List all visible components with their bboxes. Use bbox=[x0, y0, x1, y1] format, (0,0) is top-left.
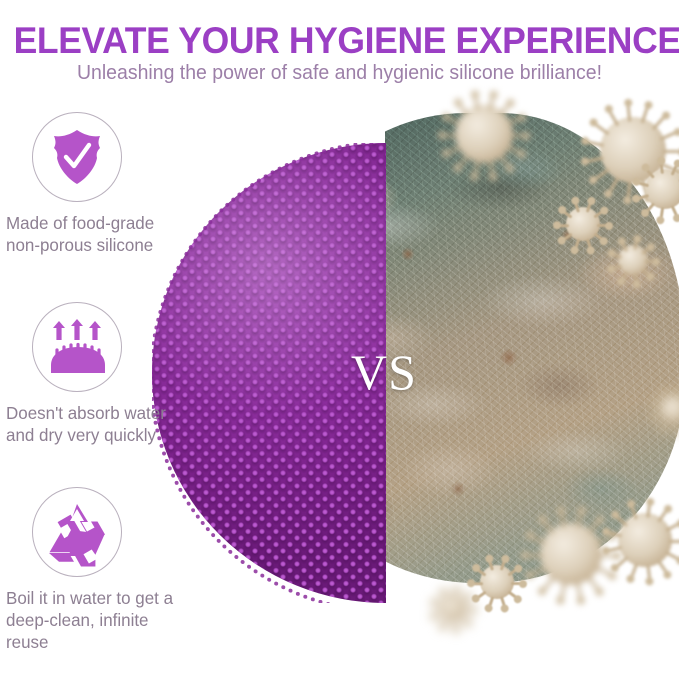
germ-spike bbox=[511, 582, 524, 585]
feature-item-food-grade: Made of food-grade non-porous silicone bbox=[6, 112, 192, 256]
feature-item-reusable: Boil it in water to get a deep-clean, in… bbox=[6, 487, 192, 653]
germ-particle bbox=[618, 513, 672, 567]
feature-item-quick-dry: Doesn't absorb water and dry very quickl… bbox=[6, 302, 192, 446]
germ-spike bbox=[556, 224, 569, 227]
germ-spike bbox=[645, 260, 657, 263]
germ-spike bbox=[663, 150, 679, 153]
product-infographic: ELEVATE YOUR HYGIENE EXPERIENCE Unleashi… bbox=[0, 0, 679, 679]
germ-particle bbox=[440, 595, 466, 621]
recycle-icon bbox=[32, 487, 122, 577]
germ-particle bbox=[480, 565, 514, 599]
quick-dry-icon bbox=[32, 302, 122, 392]
germ-spike bbox=[669, 540, 679, 543]
germ-spike bbox=[524, 554, 543, 557]
germ-spike bbox=[463, 608, 474, 611]
germ-spike bbox=[674, 389, 679, 400]
germ-particle bbox=[455, 105, 513, 163]
feature-label: Made of food-grade non-porous silicone bbox=[6, 212, 186, 256]
germ-spike bbox=[599, 554, 618, 557]
germ-particle bbox=[540, 523, 602, 585]
germ-particle bbox=[566, 207, 600, 241]
page-subtitle: Unleashing the power of safe and hygieni… bbox=[17, 61, 662, 85]
page-title: ELEVATE YOUR HYGIENE EXPERIENCE bbox=[14, 20, 666, 62]
shield-check-icon bbox=[32, 112, 122, 202]
germ-particle bbox=[618, 245, 648, 275]
germ-spike bbox=[441, 134, 458, 137]
vs-label: VS bbox=[338, 343, 430, 401]
germ-spike bbox=[597, 224, 610, 227]
germ-spike bbox=[470, 582, 483, 585]
feature-label: Boil it in water to get a deep-clean, in… bbox=[6, 587, 186, 653]
germ-spike bbox=[510, 134, 527, 137]
germ-particle bbox=[645, 169, 679, 209]
feature-label: Doesn't absorb water and dry very quickl… bbox=[6, 402, 186, 446]
